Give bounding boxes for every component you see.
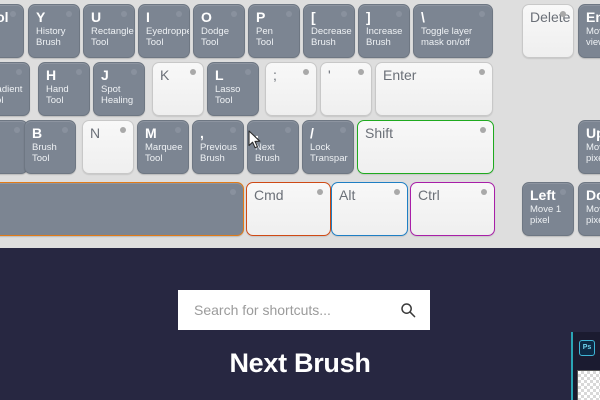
- key-status-dot-icon: [230, 127, 236, 133]
- search-box[interactable]: [178, 290, 430, 330]
- key-status-dot-icon: [560, 11, 566, 17]
- key-b[interactable]: BBrush Tool: [24, 120, 76, 174]
- key-space[interactable]: (Hold): [0, 182, 244, 236]
- key-cap-label: Up: [586, 126, 600, 140]
- key-action-label: Brush Tool: [32, 143, 68, 164]
- key-action-label: Dodge Tool: [201, 27, 237, 48]
- key-k[interactable]: K: [152, 62, 204, 116]
- key-arrow-down[interactable]: DownMove 1 pixel: [578, 182, 600, 236]
- key-action-label: Spot Healing: [101, 85, 137, 106]
- key-status-dot-icon: [62, 127, 68, 133]
- key-g[interactable]: GGradient Tool: [0, 62, 30, 116]
- key-semicolon[interactable]: ;: [265, 62, 317, 116]
- key-i[interactable]: IEyedropper Tool: [138, 4, 190, 58]
- key-cap-label: Enter: [383, 68, 485, 83]
- key-status-dot-icon: [16, 69, 22, 75]
- key-action-label: (Hold): [0, 191, 236, 202]
- key-cap-label: Down: [586, 188, 600, 202]
- key-action-label: Decrease Brush: [311, 27, 347, 48]
- key-status-dot-icon: [394, 189, 400, 195]
- bottom-panel: Next Brush: [0, 248, 600, 400]
- key-status-dot-icon: [66, 11, 72, 17]
- key-y[interactable]: YHistory Brush: [28, 4, 80, 58]
- key-arrow-up[interactable]: UpMove 1 pixel: [578, 120, 600, 174]
- key-status-dot-icon: [231, 11, 237, 17]
- key-action-label: Move view: [586, 27, 600, 48]
- key-status-dot-icon: [121, 11, 127, 17]
- key-action-label: Move 1 pixel: [586, 205, 600, 226]
- key-status-dot-icon: [340, 127, 346, 133]
- search-input[interactable]: [192, 301, 400, 319]
- key-action-label: Increase Brush: [366, 27, 402, 48]
- key-action-label: Rectangle Tool: [91, 27, 127, 48]
- key-status-dot-icon: [303, 69, 309, 75]
- key-status-dot-icon: [481, 189, 487, 195]
- key-cap-label: Alt: [339, 188, 400, 203]
- key-status-dot-icon: [175, 127, 181, 133]
- key-action-label: Pen Tool: [256, 27, 292, 48]
- key-status-dot-icon: [560, 189, 566, 195]
- photoshop-icon: Ps: [579, 340, 595, 356]
- key-l[interactable]: LLasso Tool: [207, 62, 259, 116]
- key-status-dot-icon: [245, 69, 251, 75]
- key-action-label: Lock Transpar: [310, 143, 346, 164]
- key-status-dot-icon: [479, 11, 485, 17]
- key-n[interactable]: N: [82, 120, 134, 174]
- key-comma[interactable]: ,Previous Brush: [192, 120, 244, 174]
- key-status-dot-icon: [285, 127, 291, 133]
- key-ctrl[interactable]: Ctrl: [410, 182, 495, 236]
- key-alt[interactable]: Alt: [331, 182, 408, 236]
- key-action-label: Lasso Tool: [215, 85, 251, 106]
- key-status-dot-icon: [76, 69, 82, 75]
- key-arrow-left[interactable]: LeftMove 1 pixel: [522, 182, 574, 236]
- key-m[interactable]: MMarquee Tool: [137, 120, 189, 174]
- key-t-clipped[interactable]: Tool: [0, 4, 24, 58]
- key-status-dot-icon: [341, 11, 347, 17]
- key-apostrophe[interactable]: ': [320, 62, 372, 116]
- key-backslash[interactable]: \Toggle layer mask on/off: [413, 4, 493, 58]
- key-cap-label: End: [586, 10, 600, 24]
- key-status-dot-icon: [479, 69, 485, 75]
- key-enter[interactable]: Enter: [375, 62, 493, 116]
- key-action-label: Eyedropper Tool: [146, 27, 182, 48]
- key-action-label: Gradient Tool: [0, 85, 22, 106]
- key-action-label: Previous Brush: [200, 143, 236, 164]
- key-bracket-right[interactable]: ]Increase Brush: [358, 4, 410, 58]
- keyboard-layout: ToolYHistory BrushURectangle ToolIEyedro…: [0, 0, 600, 248]
- key-shift-right[interactable]: Shift: [357, 120, 494, 174]
- search-icon[interactable]: [400, 302, 416, 318]
- key-delete[interactable]: Delete: [522, 4, 574, 58]
- key-cap-label: \: [421, 10, 485, 24]
- key-status-dot-icon: [10, 11, 16, 17]
- key-status-dot-icon: [317, 189, 323, 195]
- key-status-dot-icon: [131, 69, 137, 75]
- canvas-thumbnail: [577, 370, 600, 400]
- key-status-dot-icon: [190, 69, 196, 75]
- key-action-label: Move 1 pixel: [586, 143, 600, 164]
- key-j[interactable]: JSpot Healing: [93, 62, 145, 116]
- key-status-dot-icon: [286, 11, 292, 17]
- key-cap-label: Ctrl: [418, 188, 487, 203]
- key-status-dot-icon: [396, 11, 402, 17]
- key-status-dot-icon: [120, 127, 126, 133]
- page-title: Next Brush: [0, 348, 600, 379]
- key-o[interactable]: ODodge Tool: [193, 4, 245, 58]
- key-action-label: History Brush: [36, 27, 72, 48]
- key-p[interactable]: PPen Tool: [248, 4, 300, 58]
- key-u[interactable]: URectangle Tool: [83, 4, 135, 58]
- app-window-panel[interactable]: Ps: [571, 332, 600, 400]
- key-action-label: Move 1 pixel: [530, 205, 566, 226]
- mouse-pointer-icon: [248, 130, 262, 150]
- key-cmd[interactable]: Cmd: [246, 182, 331, 236]
- key-slash[interactable]: /Lock Transpar: [302, 120, 354, 174]
- key-action-label: Marquee Tool: [145, 143, 181, 164]
- key-end[interactable]: EndMove view: [578, 4, 600, 58]
- key-status-dot-icon: [480, 127, 486, 133]
- shortcut-mapper-app: ToolYHistory BrushURectangle ToolIEyedro…: [0, 0, 600, 400]
- key-cap-label: Cmd: [254, 188, 323, 203]
- key-status-dot-icon: [358, 69, 364, 75]
- key-status-dot-icon: [230, 189, 236, 195]
- key-status-dot-icon: [176, 11, 182, 17]
- key-action-label: Toggle layer mask on/off: [421, 27, 485, 48]
- key-status-dot-icon: [14, 127, 20, 133]
- key-bracket-left[interactable]: [Decrease Brush: [303, 4, 355, 58]
- key-h[interactable]: HHand Tool: [38, 62, 90, 116]
- key-cap-label: Shift: [365, 126, 486, 141]
- key-action-label: Hand Tool: [46, 85, 82, 106]
